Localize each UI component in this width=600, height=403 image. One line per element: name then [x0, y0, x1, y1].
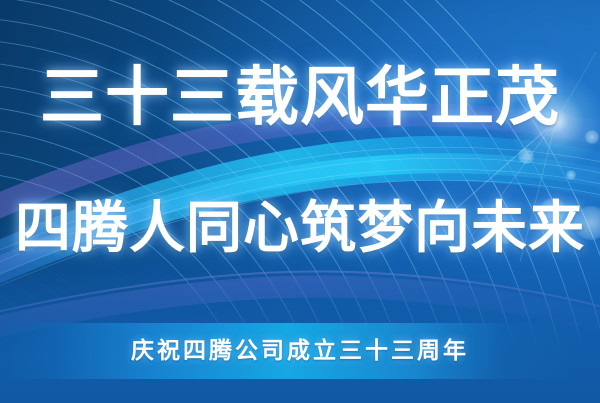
- anniversary-poster: 三十三载风华正茂 四腾人同心筑梦向未来 庆祝四腾公司成立三十三周年: [0, 0, 600, 403]
- bokeh-circle: [518, 148, 534, 164]
- subtitle-banner-text: 庆祝四腾公司成立三十三周年: [0, 336, 600, 366]
- headline-line-1: 三十三载风华正茂: [0, 57, 600, 139]
- headline-line-2: 四腾人同心筑梦向未来: [0, 192, 600, 266]
- bokeh-circle: [566, 170, 576, 180]
